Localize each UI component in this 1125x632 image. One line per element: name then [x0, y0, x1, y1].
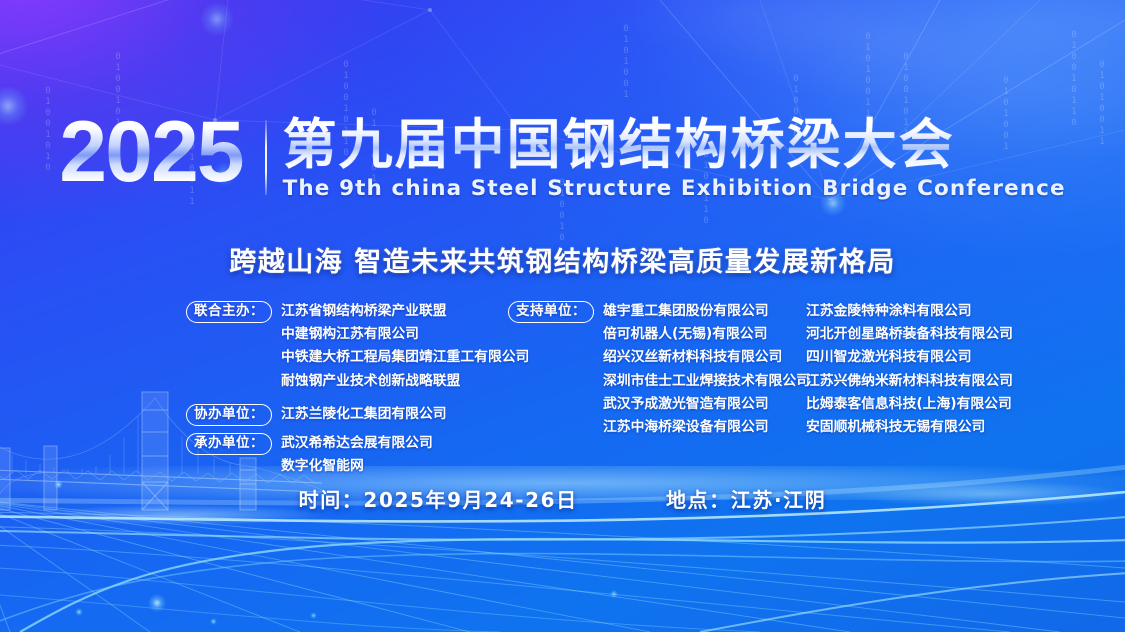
title-divider [265, 120, 267, 195]
glow-dot [200, 2, 234, 36]
label-supporters: 支持单位： [508, 301, 594, 323]
tagline: 跨越山海 智造未来共筑钢结构桥梁高质量发展新格局 [0, 240, 1125, 279]
list-item: 深圳市佳士工业焊接技术有限公司 [603, 370, 810, 393]
list-item: 江苏中海桥梁设备有限公司 [603, 416, 810, 439]
group-co-organizer: 协办单位： 江苏兰陵化工集团有限公司 [186, 403, 508, 426]
date-label: 时间： [299, 484, 364, 513]
conference-banner: 01001010 010010110 010011 0100101101 010… [0, 0, 1125, 632]
organizer-block: 联合主办： 江苏省钢结构桥梁产业联盟 中建钢构江苏有限公司 中铁建大桥工程局集团… [186, 300, 1046, 481]
page-title-cn: 第九届中国钢结构桥梁大会 [283, 116, 1066, 173]
place-value: 江苏·江阴 [731, 484, 827, 513]
organizer-column-left: 联合主办： 江苏省钢结构桥梁产业联盟 中建钢构江苏有限公司 中铁建大桥工程局集团… [186, 300, 508, 481]
list-item: 中铁建大桥工程局集团靖江重工有限公司 [281, 346, 529, 369]
list-item: 数字化智能网 [281, 455, 433, 478]
group-undertaker: 承办单位： 武汉希希达会展有限公司 数字化智能网 [186, 432, 508, 478]
list-item: 比姆泰客信息科技(上海)有限公司 [806, 393, 1036, 416]
event-meta: 时间：2025年9月24-26日 地点：江苏·江阴 [0, 484, 1125, 513]
list-item: 安固顺机械科技无锡有限公司 [806, 416, 1036, 439]
list-item: 雄宇重工集团股份有限公司 [603, 300, 810, 323]
list-item: 武汉予成激光智造有限公司 [603, 393, 810, 416]
group-supporters: 支持单位： 雄宇重工集团股份有限公司 倍可机器人(无锡)有限公司 绍兴汉丝新材料… [508, 300, 806, 439]
place-label: 地点： [666, 484, 731, 513]
glow-dot [610, 590, 618, 598]
list-item: 倍可机器人(无锡)有限公司 [603, 323, 810, 346]
list-item: 河北开创星路桥装备科技有限公司 [806, 323, 1036, 346]
glow-dot [148, 594, 166, 612]
list-item: 武汉希希达会展有限公司 [281, 432, 433, 455]
list-item: 江苏兴佛纳米新材料科技有限公司 [806, 370, 1036, 393]
list-item: 中建钢构江苏有限公司 [281, 323, 529, 346]
list-item: 江苏兰陵化工集团有限公司 [281, 403, 447, 426]
list-item: 耐蚀钢产业技术创新战略联盟 [281, 370, 529, 393]
label-co-host: 联合主办： [186, 301, 272, 323]
glow-dot [310, 612, 317, 619]
supporter-column-one: 支持单位： 雄宇重工集团股份有限公司 倍可机器人(无锡)有限公司 绍兴汉丝新材料… [508, 300, 806, 442]
label-undertaker: 承办单位： [186, 433, 272, 455]
list-item: 江苏金陵特种涂料有限公司 [806, 300, 1036, 323]
title-block: 2025 第九届中国钢结构桥梁大会 The 9th china Steel St… [0, 116, 1125, 201]
list-item: 绍兴汉丝新材料科技有限公司 [603, 346, 810, 369]
glow-dot [75, 608, 83, 616]
date-value: 2025年9月24-26日 [363, 484, 577, 513]
page-title-en: The 9th china Steel Structure Exhibition… [283, 176, 1066, 201]
label-co-organizer: 协办单位： [186, 404, 272, 426]
list-item: 四川智龙激光科技有限公司 [806, 346, 1036, 369]
year-2025: 2025 [59, 116, 256, 190]
supporter-column-two: 江苏金陵特种涂料有限公司 河北开创星路桥装备科技有限公司 四川智龙激光科技有限公… [806, 300, 1036, 439]
group-co-host: 联合主办： 江苏省钢结构桥梁产业联盟 中建钢构江苏有限公司 中铁建大桥工程局集团… [186, 300, 508, 393]
list-item: 江苏省钢结构桥梁产业联盟 [281, 300, 529, 323]
glow-dot [210, 618, 217, 625]
